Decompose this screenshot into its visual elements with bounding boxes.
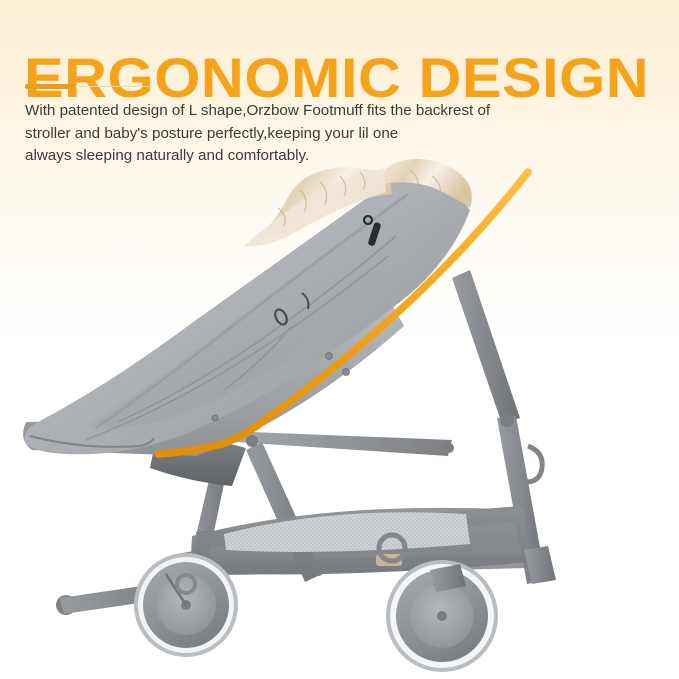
- front-wheel: [56, 550, 238, 657]
- divider-accent-segment: [25, 84, 75, 89]
- title-divider: [25, 84, 152, 89]
- description-line-2: stroller and baby's posture perfectly,ke…: [25, 123, 585, 146]
- description-line-1: With patented design of L shape,Orzbow F…: [25, 100, 585, 123]
- footmuff: [23, 179, 470, 456]
- ergonomic-design-banner: ERGONOMIC DESIGN With patented design of…: [0, 0, 679, 679]
- product-photo: [0, 150, 679, 679]
